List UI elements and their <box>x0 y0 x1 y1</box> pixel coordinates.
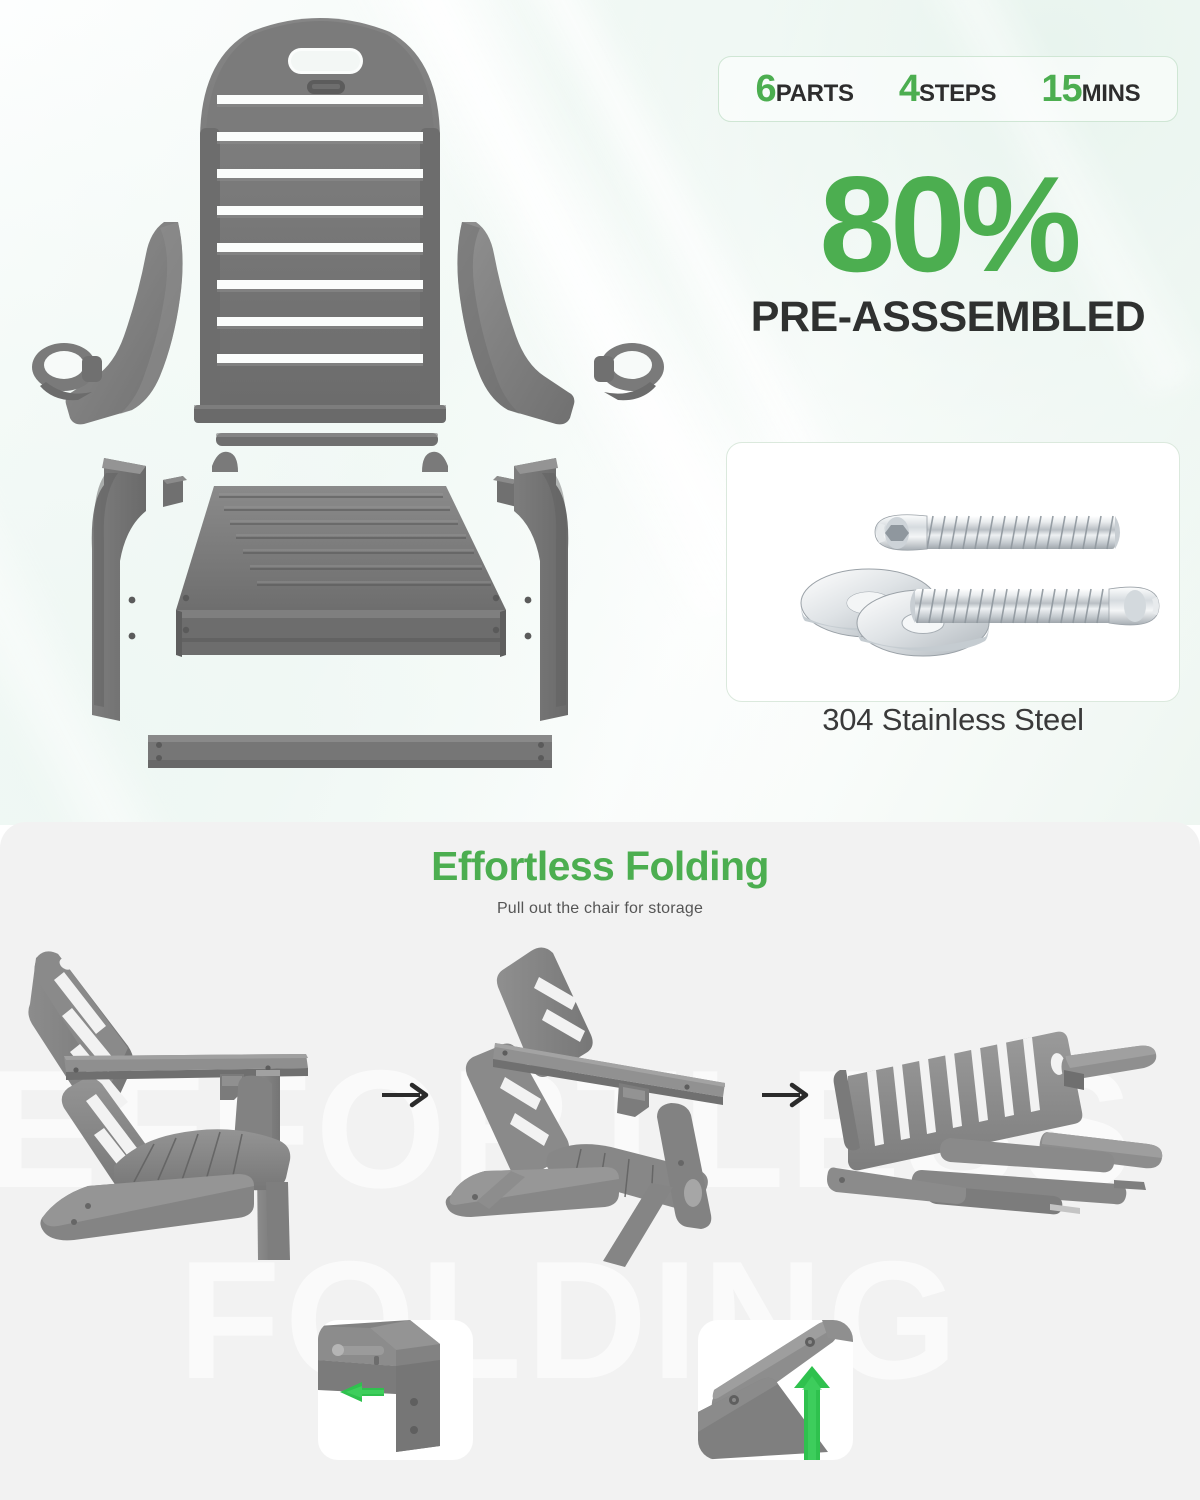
stat-parts: 6 PARTS <box>756 70 854 108</box>
bolt-icon <box>875 515 1120 551</box>
right-leg-part <box>514 458 568 721</box>
front-cross-brace-part <box>148 735 552 768</box>
latch-release-detail <box>318 1320 473 1460</box>
assembly-stats-badge: 6 PARTS 4 STEPS 15 MINS <box>718 56 1178 122</box>
stat-parts-unit: PARTS <box>776 82 854 106</box>
back-cross-brace-part <box>216 433 438 446</box>
folding-step-chair-mid <box>435 935 775 1270</box>
pre-assembled-label: PRE-ASSSEMBLED <box>718 293 1178 342</box>
spacer-block-left <box>163 476 187 507</box>
stat-mins-number: 15 <box>1041 70 1081 108</box>
arrow-right-icon <box>380 1082 432 1108</box>
stat-parts-number: 6 <box>756 70 776 108</box>
spacer-block-right <box>493 476 517 507</box>
cup-holder-ring <box>594 343 664 400</box>
left-armrest-part <box>32 222 183 424</box>
stat-steps-unit: STEPS <box>919 82 996 106</box>
hardware-caption: 304 Stainless Steel <box>718 702 1188 738</box>
right-armrest-part <box>457 222 664 424</box>
seat-slat-assembly-part <box>176 452 506 657</box>
arrow-right-icon <box>760 1082 812 1108</box>
stat-steps-number: 4 <box>899 70 919 108</box>
pre-assembled-callout: 80% PRE-ASSSEMBLED <box>718 160 1178 342</box>
leg-lift-detail <box>698 1320 853 1460</box>
left-leg-part <box>92 458 146 721</box>
stat-mins: 15 MINS <box>1041 70 1140 108</box>
stat-steps: 4 STEPS <box>899 70 996 108</box>
folding-section-title: Effortless Folding <box>0 843 1200 890</box>
bolt-icon <box>910 587 1159 625</box>
hardware-illustration <box>727 443 1179 701</box>
stat-mins-unit: MINS <box>1082 82 1141 106</box>
folding-step-chair-upright <box>18 930 368 1270</box>
exploded-chair-illustration <box>0 0 720 825</box>
folding-section-subtitle: Pull out the chair for storage <box>0 900 1200 918</box>
folding-step-chair-folded <box>818 1020 1200 1270</box>
pre-assembled-percent: 80% <box>718 160 1178 289</box>
chair-back-part <box>194 18 446 423</box>
hardware-card <box>726 442 1180 702</box>
